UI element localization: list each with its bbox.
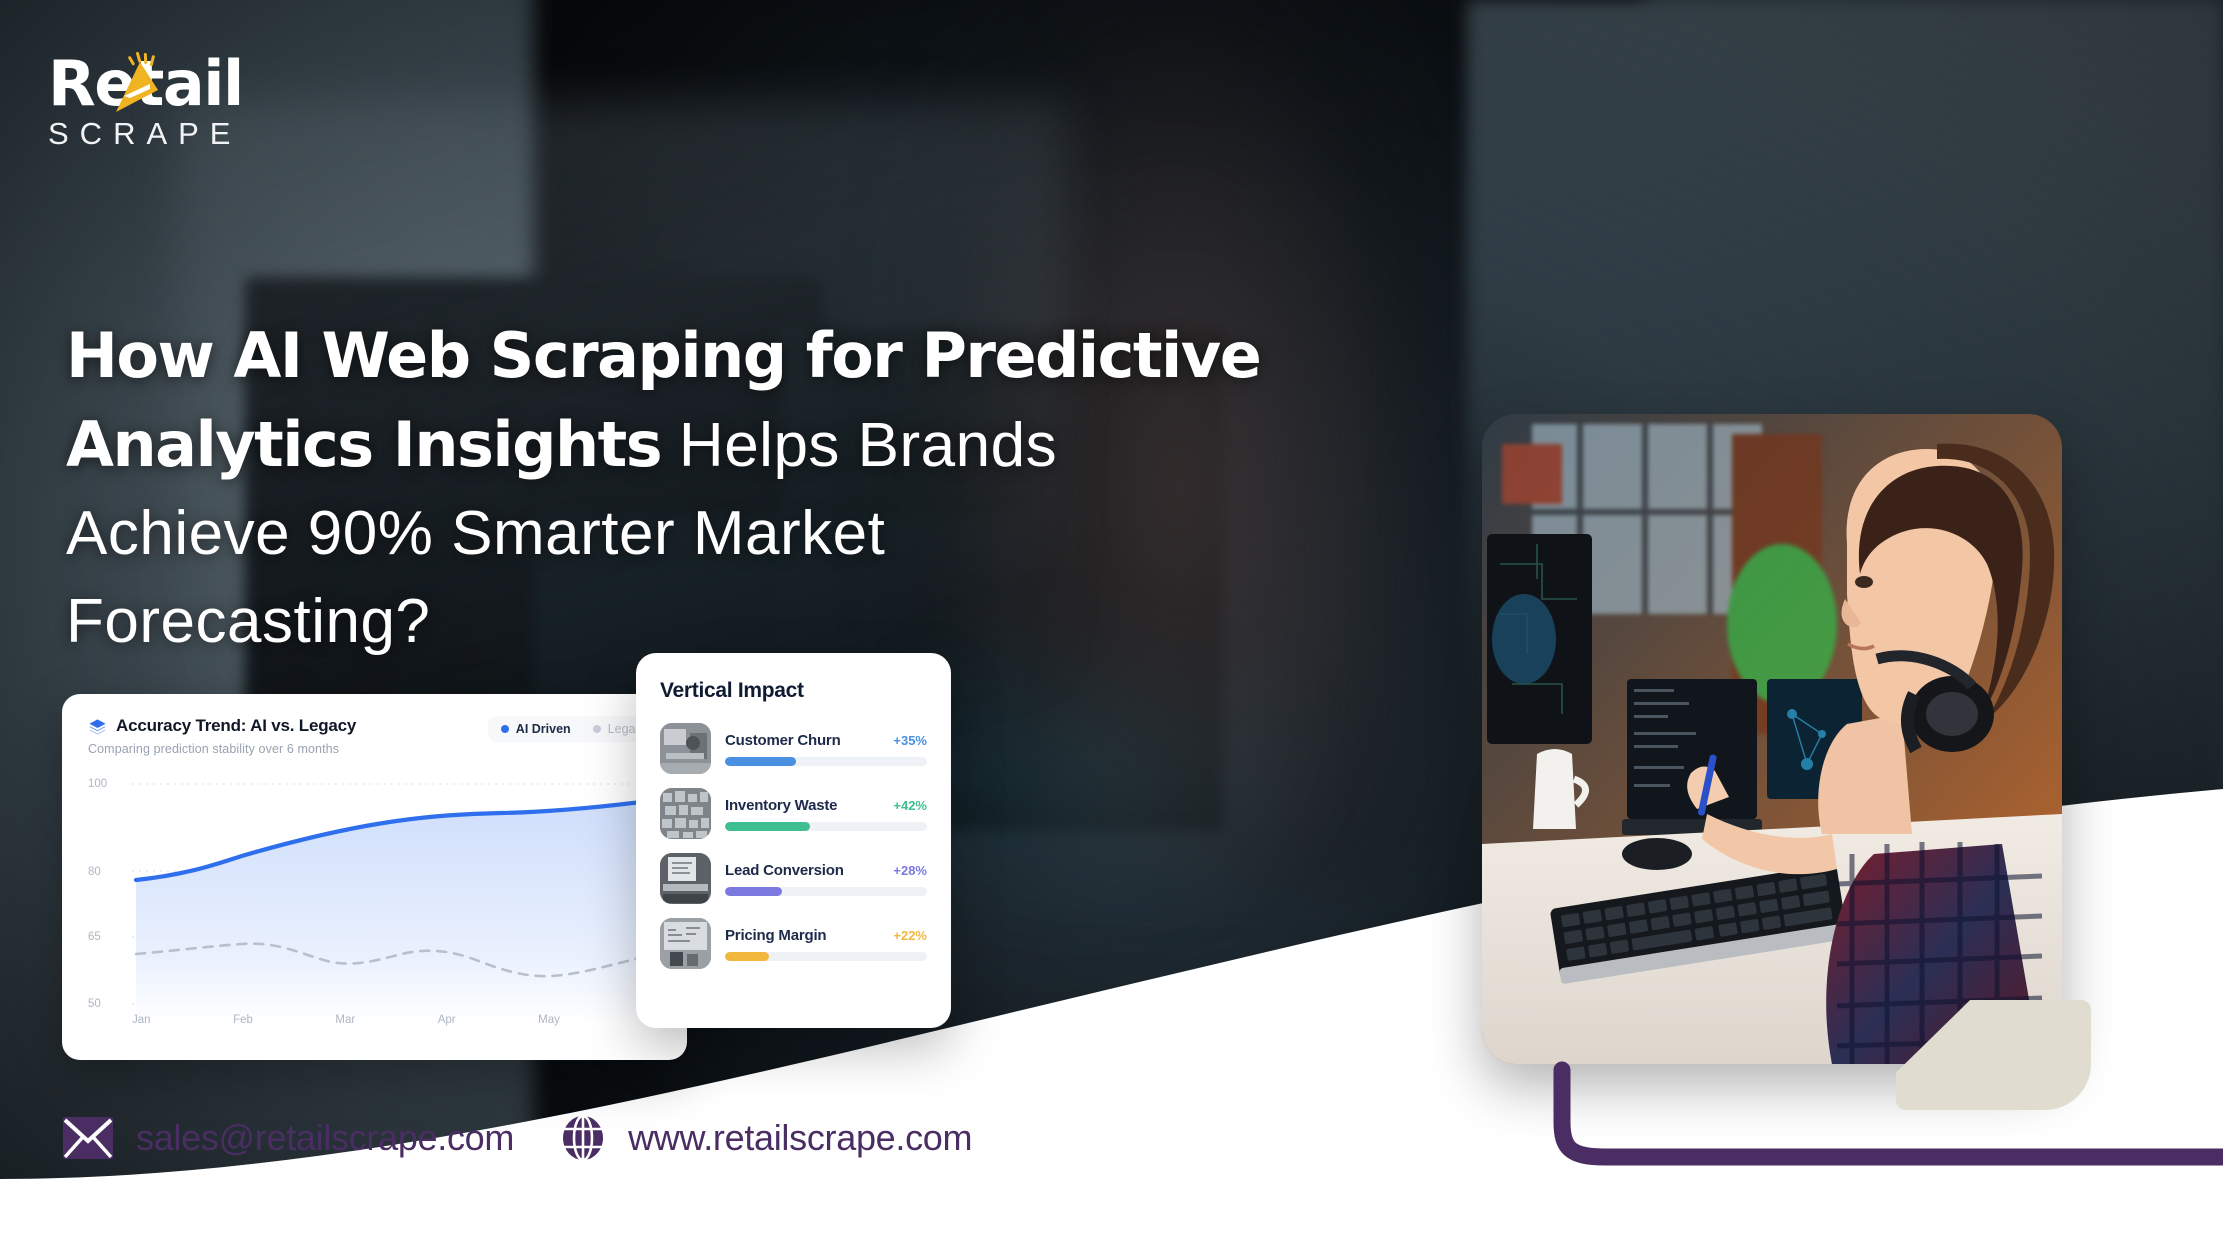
purple-swoosh-line: [1500, 1040, 2223, 1180]
y-tick-50: 50: [88, 998, 101, 1010]
x-tick-jan: Jan: [132, 1014, 151, 1026]
legend-dot-ai-driven: [501, 725, 509, 733]
impact-row-value: +35%: [893, 733, 927, 748]
legend-label-ai-driven: AI Driven: [516, 722, 571, 736]
globe-icon: [560, 1115, 606, 1161]
x-tick-feb: Feb: [233, 1014, 253, 1026]
legend-item-ai-driven: AI Driven: [501, 722, 571, 736]
impact-progress-fill: [725, 887, 782, 896]
poster-canvas: Retail SCRAPE How AI Web Scraping for Pr…: [0, 0, 2223, 1257]
impact-row-value: +22%: [893, 928, 927, 943]
impact-row-value: +28%: [893, 863, 927, 878]
headline-line-2-bold: Analytics Insights: [66, 408, 661, 481]
whiteboard-thumb: [660, 918, 711, 969]
impact-progress-track: [725, 887, 927, 896]
list-item[interactable]: Pricing Margin +22%: [660, 918, 927, 969]
woman-at-desk-photo: [1482, 414, 2062, 1064]
footer-contact-bar: sales@retailscrape.com www.retailscrape.…: [62, 1115, 972, 1161]
vertical-impact-title: Vertical Impact: [660, 679, 927, 703]
chart-svg: [132, 774, 661, 1024]
headline-line-1: How AI Web Scraping for Predictive: [66, 319, 1260, 392]
impact-progress-fill: [725, 757, 796, 766]
y-tick-80: 80: [88, 866, 101, 878]
vertical-impact-card: Vertical Impact Customer Churn +35%: [636, 653, 951, 1028]
email-text: sales@retailscrape.com: [136, 1117, 514, 1159]
list-item[interactable]: Customer Churn +35%: [660, 723, 927, 774]
chart-plot-area: 100 80 65 50: [88, 774, 661, 1024]
chart-subtitle: Comparing prediction stability over 6 mo…: [88, 742, 356, 756]
envelope-icon: [62, 1116, 114, 1160]
stack-layers-icon: [88, 718, 107, 737]
x-tick-mar: Mar: [335, 1014, 355, 1026]
impact-progress-track: [725, 757, 927, 766]
impact-row-label: Inventory Waste: [725, 797, 837, 814]
impact-progress-fill: [725, 952, 769, 961]
headline-line-4: Forecasting?: [66, 587, 430, 656]
brand-logo: Retail SCRAPE: [48, 48, 308, 152]
chart-x-axis: Jan Feb Mar Apr May Jun: [132, 1014, 661, 1026]
y-tick-65: 65: [88, 931, 101, 943]
headline-line-3: Achieve 90% Smarter Market: [66, 499, 885, 568]
y-tick-100: 100: [88, 778, 107, 790]
page-title: How AI Web Scraping for Predictive Analy…: [66, 324, 1376, 679]
list-item[interactable]: Inventory Waste +42%: [660, 788, 927, 839]
impact-row-label: Customer Churn: [725, 732, 841, 749]
legend-dot-legacy: [593, 725, 601, 733]
impact-row-label: Pricing Margin: [725, 927, 826, 944]
impact-row-label: Lead Conversion: [725, 862, 844, 879]
headline-line-2-normal: Helps Brands: [661, 411, 1057, 480]
x-tick-may: May: [538, 1014, 560, 1026]
x-tick-apr: Apr: [438, 1014, 456, 1026]
impact-progress-track: [725, 822, 927, 831]
website-text: www.retailscrape.com: [628, 1117, 972, 1159]
logo-subtitle: SCRAPE: [48, 116, 308, 152]
list-item[interactable]: Lead Conversion +28%: [660, 853, 927, 904]
accuracy-trend-card: Accuracy Trend: AI vs. Legacy Comparing …: [62, 694, 687, 1060]
warehouse-thumb: [660, 788, 711, 839]
chart-title: Accuracy Trend: AI vs. Legacy: [116, 716, 356, 736]
desk-worker-thumb: [660, 723, 711, 774]
impact-progress-fill: [725, 822, 810, 831]
impact-row-value: +42%: [893, 798, 927, 813]
website-contact[interactable]: www.retailscrape.com: [560, 1115, 972, 1161]
party-popper-icon: [110, 52, 182, 118]
email-contact[interactable]: sales@retailscrape.com: [62, 1116, 514, 1160]
document-thumb: [660, 853, 711, 904]
impact-progress-track: [725, 952, 927, 961]
